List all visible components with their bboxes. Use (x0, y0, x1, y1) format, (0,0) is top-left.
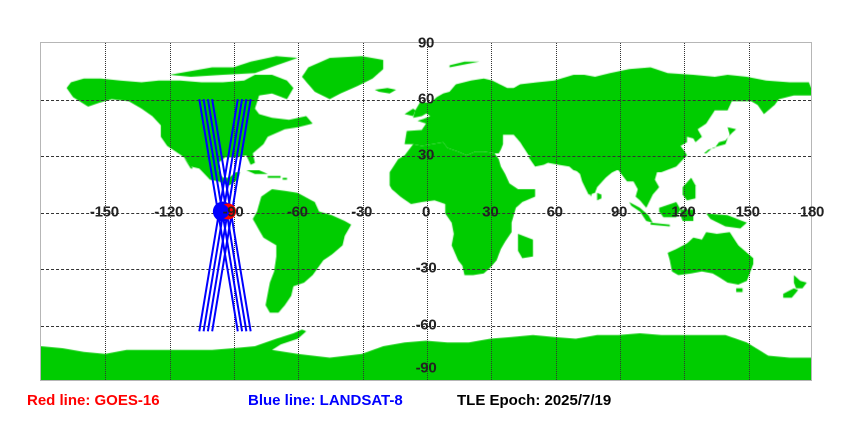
legend-bar: Red line: GOES-16 Blue line: LANDSAT-8 T… (0, 392, 850, 425)
lat-tick-90: 90 (418, 35, 434, 52)
lon-tick-180: 180 (800, 203, 824, 220)
lon-tick-neg150: -150 (90, 203, 119, 220)
lon-tick-neg30: -30 (351, 203, 372, 220)
lon-tick-90: 90 (611, 203, 627, 220)
lon-tick-0: 0 (422, 203, 430, 220)
lat-tick-neg30: -30 (416, 260, 437, 277)
lat-tick-30: 30 (418, 147, 434, 164)
legend-red-line-goes16: Red line: GOES-16 (27, 392, 160, 409)
legend-tle-epoch: TLE Epoch: 2025/7/19 (457, 392, 611, 409)
lon-tick-neg90: -90 (223, 203, 244, 220)
lon-tick-neg60: -60 (287, 203, 308, 220)
lon-tick-60: 60 (547, 203, 563, 220)
lat-tick-60: 60 (418, 90, 434, 107)
lon-tick-120: 120 (671, 203, 695, 220)
legend-blue-line-landsat8: Blue line: LANDSAT-8 (248, 392, 403, 409)
lon-tick-30: 30 (482, 203, 498, 220)
lon-tick-neg120: -120 (154, 203, 183, 220)
lat-tick-neg60: -60 (416, 316, 437, 333)
lon-tick-150: 150 (736, 203, 760, 220)
lat-tick-neg90: -90 (416, 360, 437, 377)
satellite-ground-track-view: -300306090120150180-150-120-90-60906030-… (0, 0, 850, 425)
